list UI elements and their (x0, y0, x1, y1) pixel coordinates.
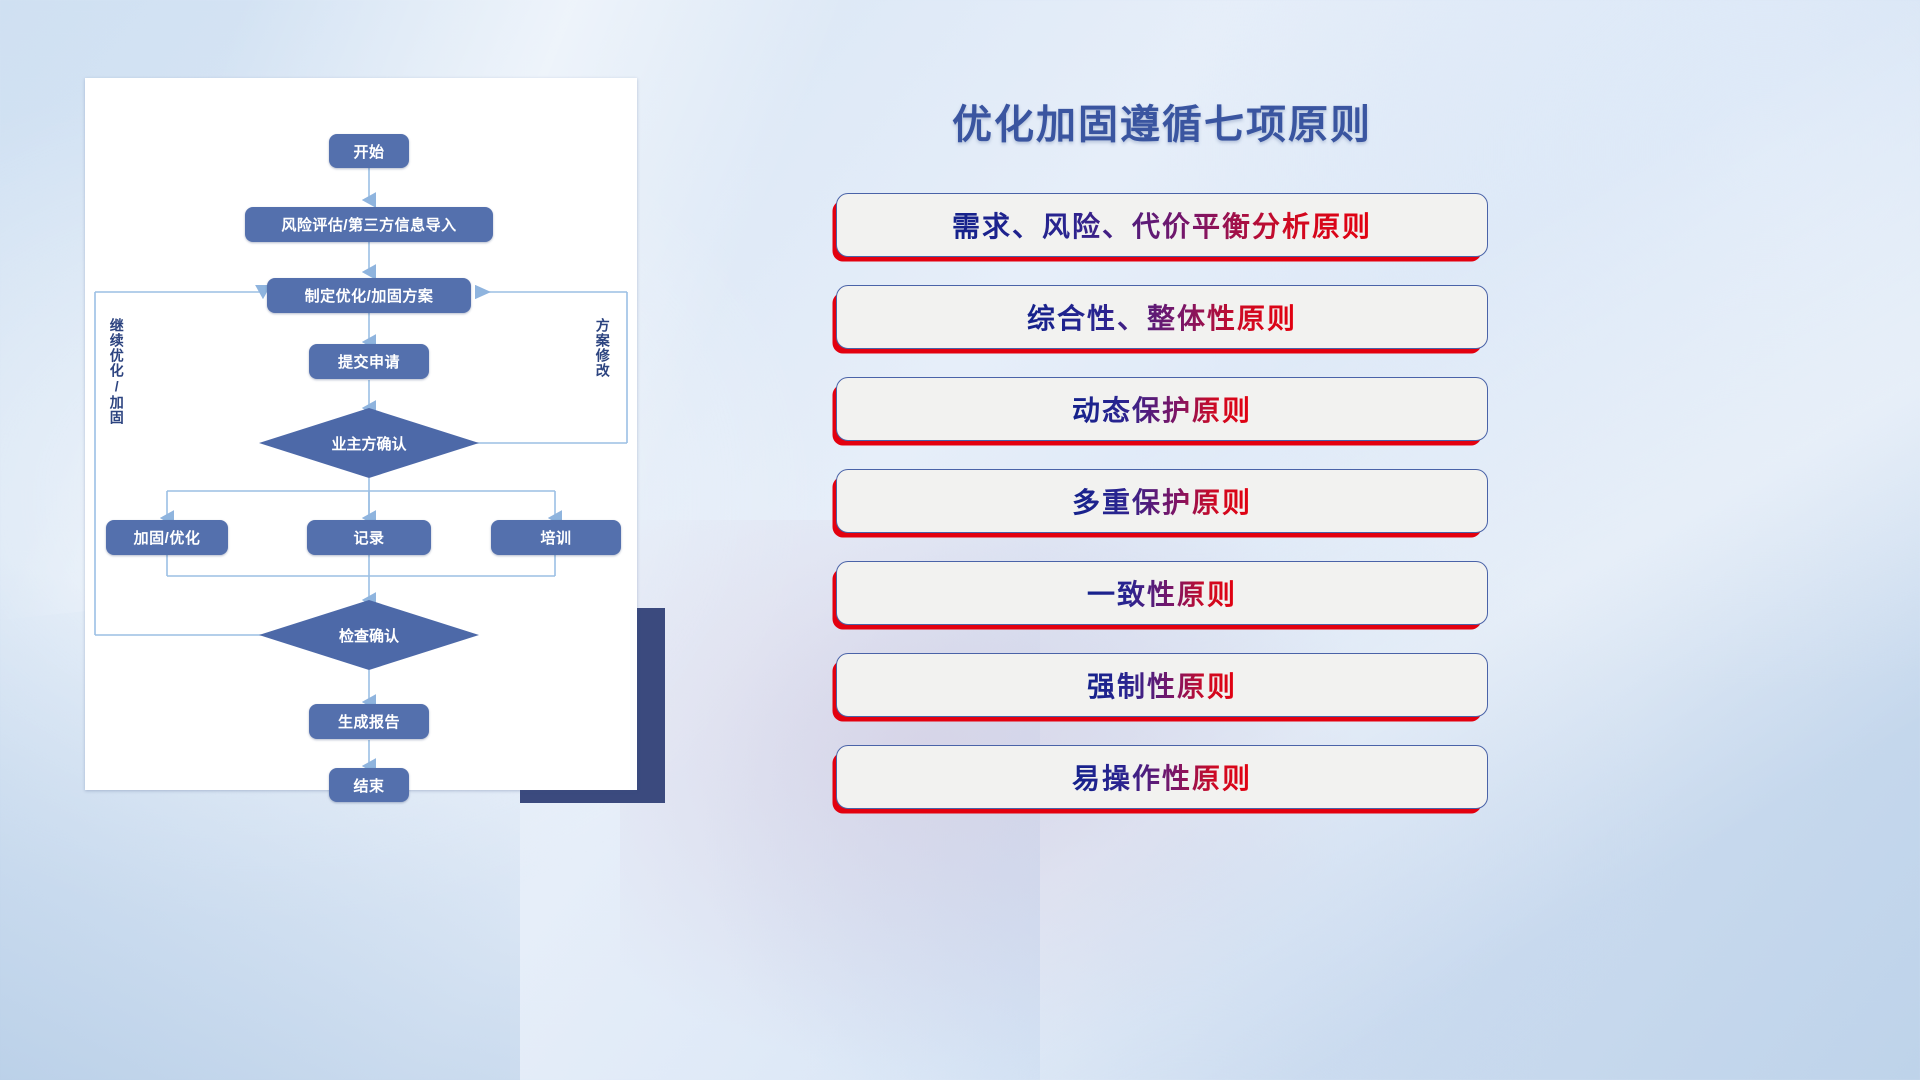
principle-card-3[interactable]: 动态保护原则 (836, 377, 1488, 441)
node-reinforce-optimize[interactable]: 加固/优化 (106, 520, 228, 555)
principle-card-1-label: 需求、风险、代价平衡分析原则 (952, 205, 1372, 245)
principle-card-4[interactable]: 多重保护原则 (836, 469, 1488, 533)
node-reinforce-optimize-label: 加固/优化 (134, 527, 201, 548)
node-make-plan-label: 制定优化/加固方案 (305, 285, 434, 306)
principle-card-2-label: 综合性、整体性原则 (1027, 297, 1297, 337)
principle-card-5[interactable]: 一致性原则 (836, 561, 1488, 625)
node-submit-application[interactable]: 提交申请 (309, 344, 429, 379)
principle-card-4-label: 多重保护原则 (1072, 481, 1252, 521)
flowchart-panel: 开始 风险评估/第三方信息导入 制定优化/加固方案 提交申请 业主方确认 加固/… (85, 78, 665, 803)
node-training[interactable]: 培训 (491, 520, 621, 555)
node-risk-assessment[interactable]: 风险评估/第三方信息导入 (245, 207, 493, 242)
decision-check-confirm (259, 600, 479, 670)
node-risk-assessment-label: 风险评估/第三方信息导入 (281, 214, 456, 235)
node-submit-application-label: 提交申请 (338, 351, 400, 372)
principle-card-2[interactable]: 综合性、整体性原则 (836, 285, 1488, 349)
principle-card-7[interactable]: 易操作性原则 (836, 745, 1488, 809)
node-generate-report-label: 生成报告 (338, 711, 400, 732)
node-end[interactable]: 结束 (329, 768, 409, 802)
decision-owner-confirm (259, 408, 479, 478)
node-end-label: 结束 (353, 775, 384, 796)
node-record[interactable]: 记录 (307, 520, 431, 555)
node-record-label: 记录 (353, 527, 384, 548)
node-training-label: 培训 (540, 527, 571, 548)
principle-card-3-label: 动态保护原则 (1072, 389, 1252, 429)
principle-card-5-label: 一致性原则 (1087, 573, 1237, 613)
principle-card-1[interactable]: 需求、风险、代价平衡分析原则 (836, 193, 1488, 257)
edge-label-plan-revision: 方案修改 (595, 318, 610, 428)
flowchart-connectors (85, 78, 637, 790)
node-start-label: 开始 (353, 141, 384, 162)
principle-card-7-label: 易操作性原则 (1072, 757, 1252, 797)
principle-card-6-label: 强制性原则 (1087, 665, 1237, 705)
node-generate-report[interactable]: 生成报告 (309, 704, 429, 739)
principle-card-6[interactable]: 强制性原则 (836, 653, 1488, 717)
edge-label-continue-optimize: 继续优化/加固 (109, 318, 124, 458)
principles-title: 优化加固遵循七项原则 (836, 92, 1488, 150)
principles-panel: 优化加固遵循七项原则 需求、风险、代价平衡分析原则 综合性、整体性原则 动态保护… (836, 74, 1488, 814)
node-make-plan[interactable]: 制定优化/加固方案 (267, 278, 471, 313)
node-start[interactable]: 开始 (329, 134, 409, 168)
principles-list: 需求、风险、代价平衡分析原则 综合性、整体性原则 动态保护原则 多重保护原则 一… (836, 193, 1488, 837)
